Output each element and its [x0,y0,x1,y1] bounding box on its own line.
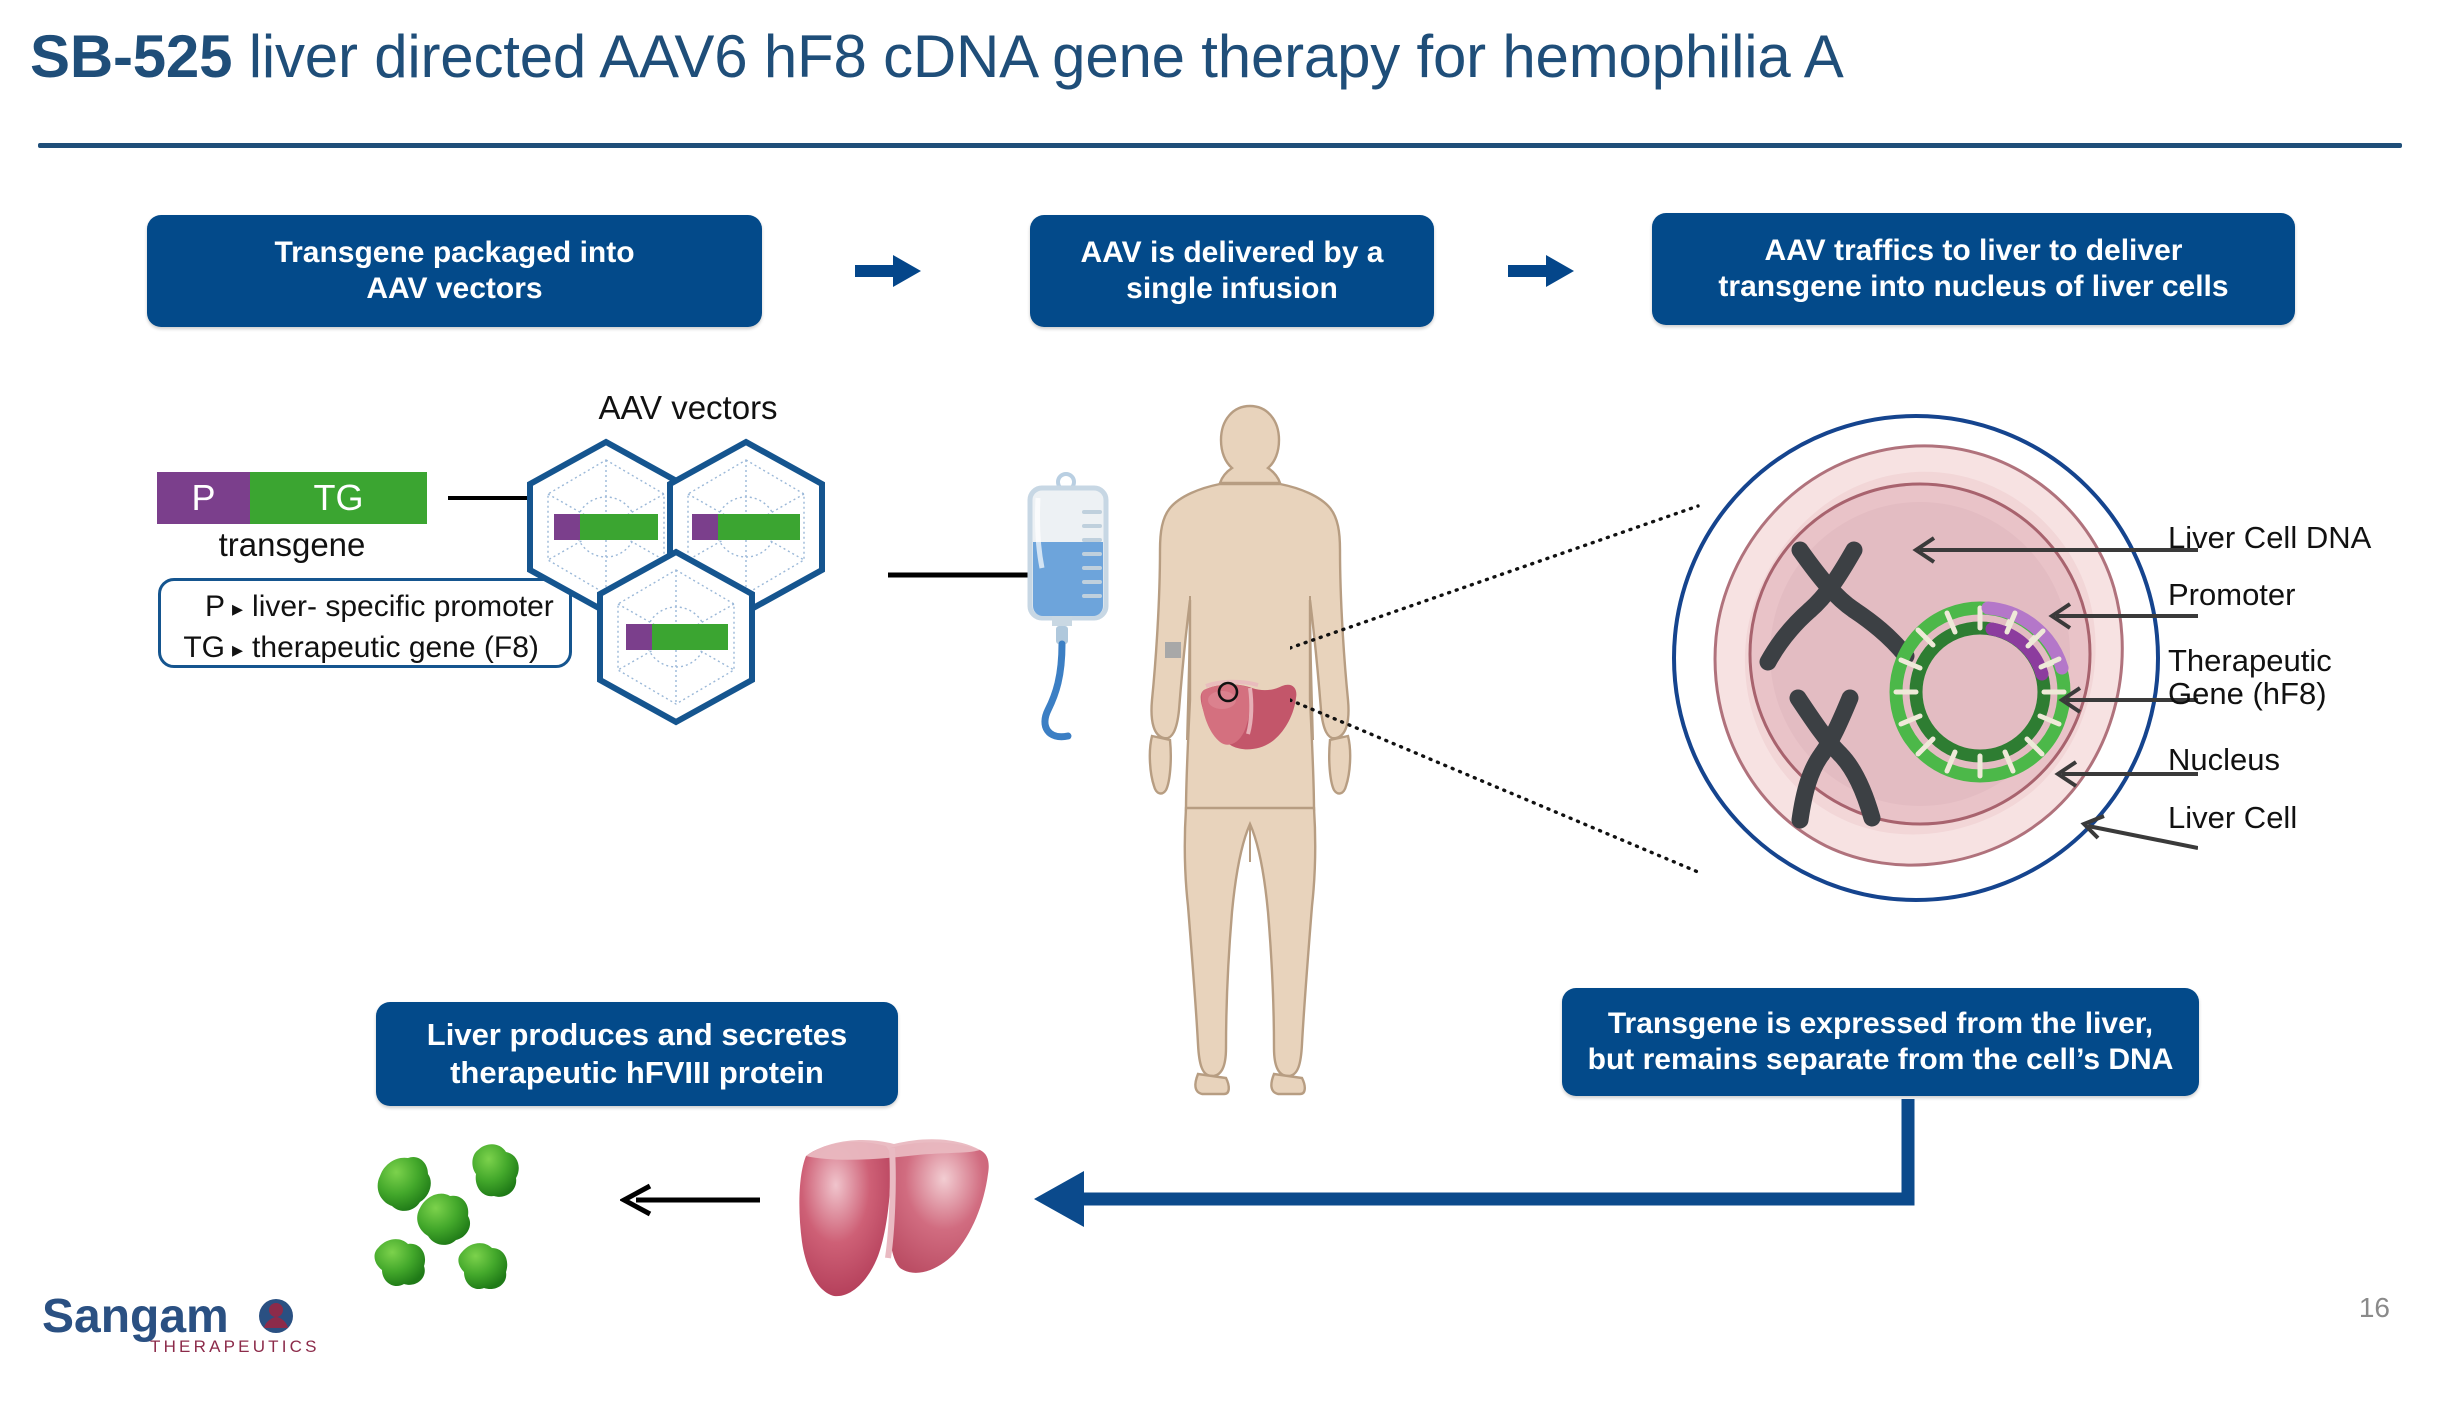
triangle-bullet-icon: ▸ [232,589,243,628]
process-step-1-line1: Transgene packaged into [274,235,634,271]
legend-row: P ▸ liver- specific promoter [161,587,569,628]
arrow-right-icon [1508,251,1578,291]
callout-promoter: Promoter [2168,577,2295,613]
callout-nucleus: Nucleus [2168,742,2280,778]
iv-bag-icon [1022,470,1128,770]
process-step-1-line2: AAV vectors [274,271,634,307]
transgene-caption: transgene [157,526,427,564]
callout-liver-cell: Liver Cell [2168,800,2297,836]
legend-row: TG ▸ therapeutic gene (F8) [161,628,569,669]
logo-wordmark: Sangam [42,1290,229,1343]
promoter-segment: P [157,472,250,524]
magnifier-guide-lines [1290,480,1710,900]
aav-vectors-label: AAV vectors [578,389,798,427]
process-step-2-line1: AAV is delivered by a [1081,235,1384,271]
arrow-right-icon [855,251,925,291]
protein-blob-icon [375,1144,519,1289]
callout-therapeutic-gene-line1: Therapeutic [2168,644,2348,677]
legend-text: liver- specific promoter [252,587,554,626]
legend-text: therapeutic gene (F8) [252,628,539,667]
page-title-strong: SB-525 [30,23,232,90]
secretion-line1: Liver produces and secretes [427,1016,847,1054]
secretion-callout-box: Liver produces and secretes therapeutic … [376,1002,898,1106]
construct-legend-box: P ▸ liver- specific promoter TG ▸ therap… [158,578,572,668]
magnified-liver-cell [1658,410,2198,910]
process-step-3-box: AAV traffics to liver to deliver transge… [1652,213,2295,325]
transgene-construct-bar: P TG [157,472,427,524]
callout-therapeutic-gene: Therapeutic Gene (hF8) [2168,644,2348,710]
process-step-3-line2: transgene into nucleus of liver cells [1718,269,2228,305]
liver-icon [790,1130,1000,1310]
process-step-2-line2: single infusion [1081,271,1384,307]
aav-capsid-hexagon-icon [594,548,758,726]
secretion-line2: therapeutic hFVIII protein [427,1054,847,1092]
legend-key: TG [171,628,225,667]
process-step-3-line1: AAV traffics to liver to deliver [1718,233,2228,269]
process-step-2-box: AAV is delivered by a single infusion [1030,215,1434,327]
title-divider [38,143,2402,148]
callout-liver-cell-dna: Liver Cell DNA [2168,520,2371,556]
process-step-1-box: Transgene packaged into AAV vectors [147,215,762,327]
page-number: 16 [2330,1292,2390,1324]
arrow-left-thin-icon [620,1180,760,1220]
page-title-rest: liver directed AAV6 hF8 cDNA gene therap… [232,23,1843,90]
expression-line1: Transgene is expressed from the liver, [1588,1006,2174,1042]
sangamo-logo: Sangam THERAPEUTICS [42,1288,322,1360]
page-title: SB-525 liver directed AAV6 hF8 cDNA gene… [30,22,2230,92]
callout-therapeutic-gene-line2: Gene (hF8) [2168,677,2348,710]
therapeutic-gene-segment: TG [250,472,427,524]
elbow-arrow-left-icon [1020,1095,1920,1255]
legend-key: P [171,587,225,626]
protein-blob-group [370,1140,600,1310]
expression-callout-box: Transgene is expressed from the liver, b… [1562,988,2199,1096]
logo-tagline: THERAPEUTICS [150,1337,320,1356]
expression-line2: but remains separate from the cell’s DNA [1588,1042,2174,1078]
triangle-bullet-icon: ▸ [232,630,243,669]
slide-root: { "slide": { "title_strong": "SB-525", "… [0,0,2439,1420]
